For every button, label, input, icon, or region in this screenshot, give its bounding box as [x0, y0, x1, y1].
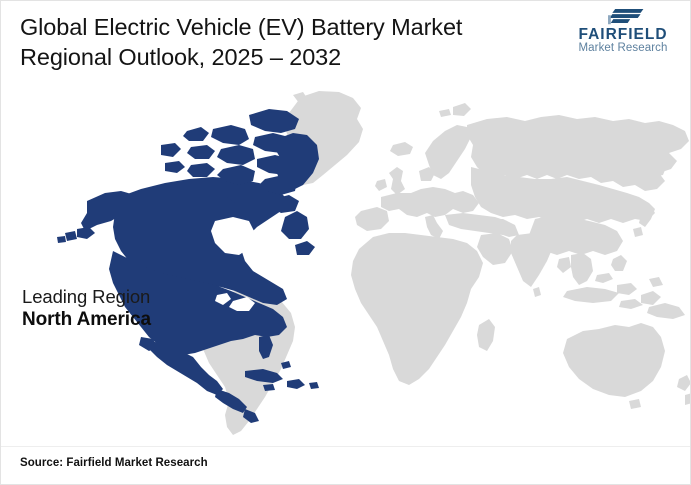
page-title-line-1: Global Electric Vehicle (EV) Battery Mar… — [20, 12, 560, 42]
fairfield-flag-icon — [602, 9, 643, 25]
leading-region-label: Leading Region — [22, 285, 252, 308]
page-title: Global Electric Vehicle (EV) Battery Mar… — [20, 12, 560, 72]
region-outlook-card: Global Electric Vehicle (EV) Battery Mar… — [0, 0, 691, 485]
world-map-svg — [1, 79, 691, 439]
map-region-north-america[interactable] — [57, 109, 319, 423]
page-title-line-2: Regional Outlook, 2025 – 2032 — [20, 42, 560, 72]
brand-wordmark: FAIRFIELD — [567, 27, 679, 42]
world-map — [1, 79, 691, 439]
brand-logo: FAIRFIELD Market Research — [567, 9, 679, 55]
leading-region-callout: Leading Region North America — [22, 285, 252, 332]
card-header: Global Electric Vehicle (EV) Battery Mar… — [1, 1, 691, 87]
footer-divider — [1, 446, 691, 447]
brand-tagline: Market Research — [567, 42, 679, 55]
leading-region-value: North America — [22, 308, 252, 332]
source-note: Source: Fairfield Market Research — [20, 457, 208, 469]
